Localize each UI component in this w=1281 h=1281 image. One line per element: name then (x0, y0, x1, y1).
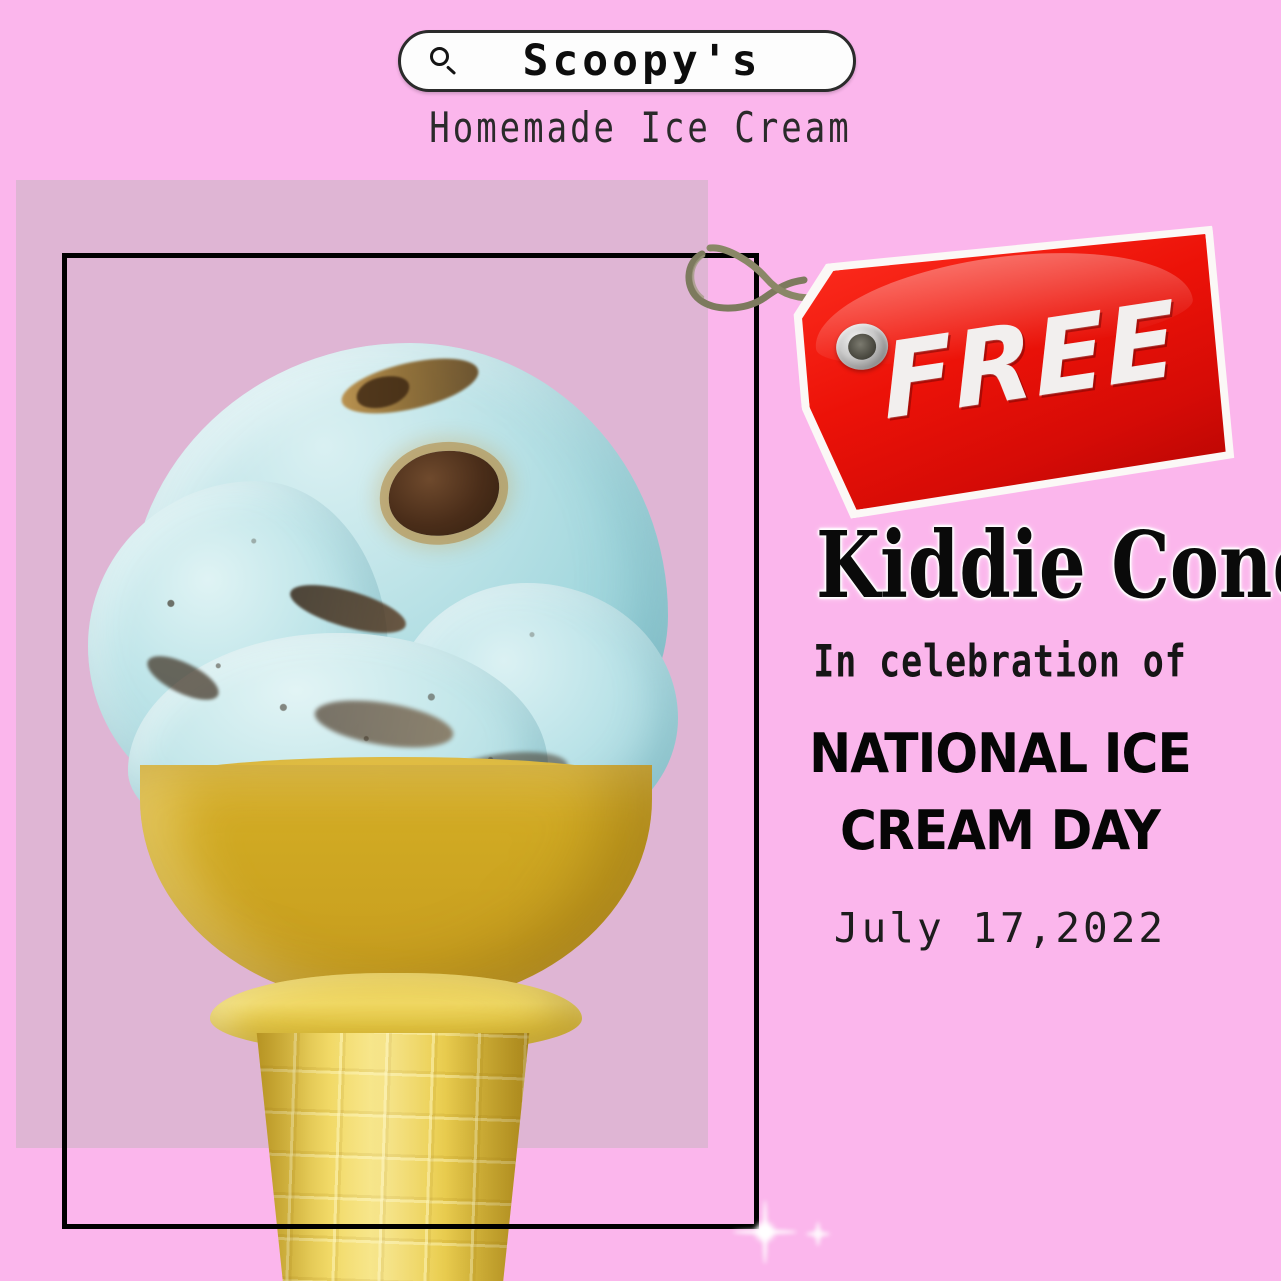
brand-name: Scoopy's (461, 40, 823, 83)
black-photo-frame (62, 253, 759, 1229)
promo-text-block: Kiddie Cone In celebration of NATIONAL I… (770, 520, 1230, 952)
poster-canvas: Scoopy's Homemade Ice Cream (0, 0, 1281, 1281)
promo-event-name-line-2: CREAM DAY (786, 793, 1214, 870)
brand-tagline: Homemade Ice Cream (0, 104, 1281, 153)
sparkle-icon (806, 1222, 830, 1246)
promo-headline: Kiddie Cone (816, 520, 1184, 610)
promo-event-date: July 17,2022 (770, 904, 1230, 952)
search-icon (427, 44, 461, 78)
search-bar[interactable]: Scoopy's (398, 30, 856, 92)
promo-subhead: In celebration of (788, 636, 1211, 687)
promo-event-name: NATIONAL ICE CREAM DAY (786, 716, 1214, 869)
promo-event-name-line-1: NATIONAL ICE (786, 716, 1214, 793)
free-price-tag[interactable]: FREE (779, 210, 1251, 537)
